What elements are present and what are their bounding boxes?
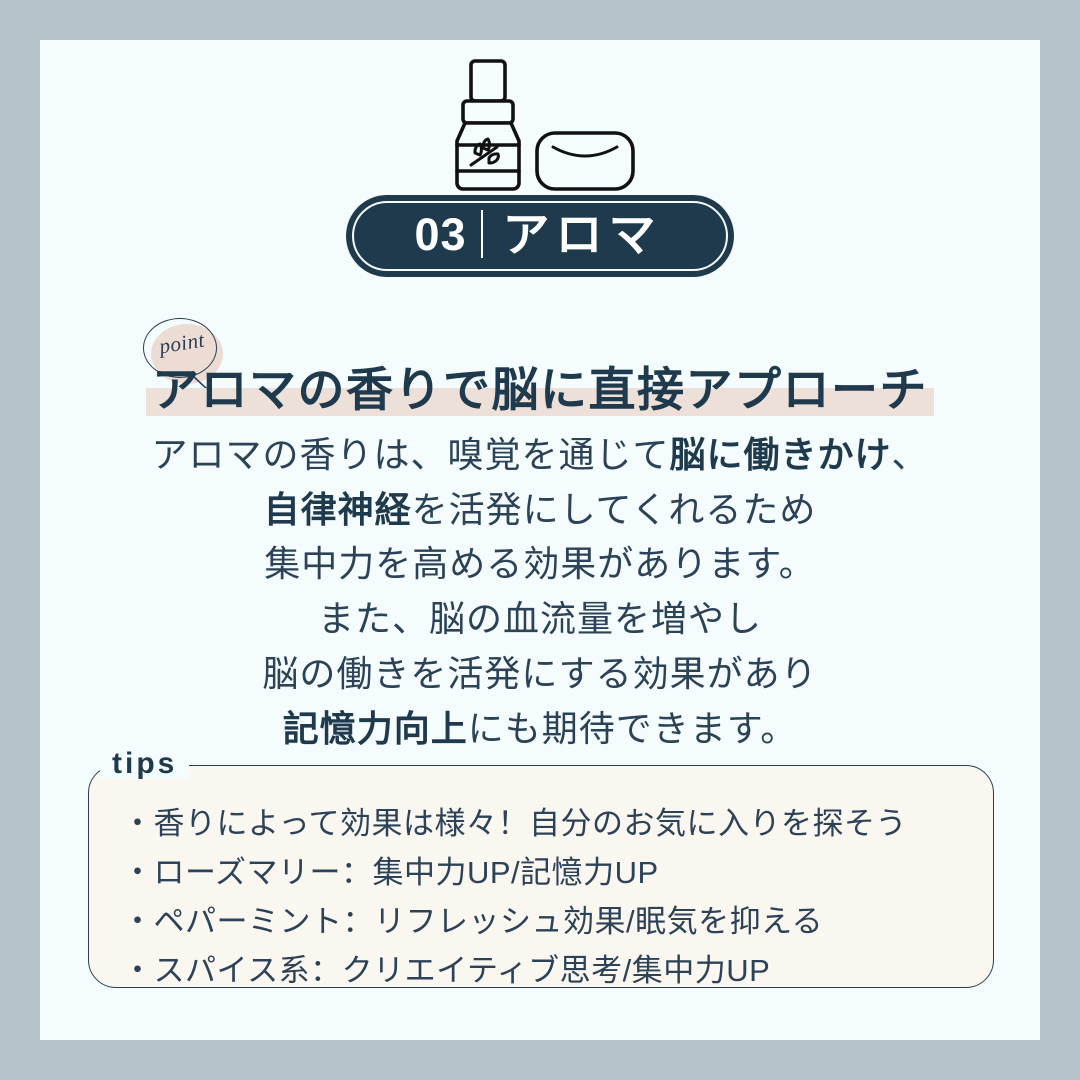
tips-legend-label: tips	[100, 749, 189, 779]
body-emphasis: 記憶力向上	[283, 708, 468, 749]
content-card: 03 アロマ point アロマの香りで脳に直接アプローチ アロマの香りは、嗅覚…	[40, 40, 1040, 1040]
tips-list: ・香りによって効果は様々！自分のお気に入りを探そう・ローズマリー：集中力UP/記…	[122, 800, 972, 996]
section-title: アロマ	[503, 211, 666, 258]
body-line: また、脳の血流量を増やし	[40, 592, 1040, 647]
section-number: 03	[414, 212, 466, 257]
page-title: アロマの香りで脳に直接アプローチ	[152, 362, 928, 417]
body-run: にも期待できます。	[468, 708, 797, 749]
body-emphasis: 脳に働きかけ	[669, 434, 891, 475]
body-line: 集中力を高める効果があります。	[40, 537, 1040, 592]
tips-item: ・スパイス系：クリエイティブ思考/集中力UP	[122, 947, 972, 996]
body-line: アロマの香りは、嗅覚を通じて脳に働きかけ、	[40, 428, 1040, 483]
badge-divider	[481, 210, 483, 258]
aroma-oil-bottle-and-soap-icon	[40, 50, 1040, 200]
tips-item: ・香りによって効果は様々！自分のお気に入りを探そう	[122, 800, 972, 849]
body-run: 集中力を高める効果があります。	[264, 543, 815, 584]
section-badge: 03 アロマ	[346, 195, 734, 277]
body-run: アロマの香りは、嗅覚を通じて	[151, 434, 669, 475]
body-line: 記憶力向上にも期待できます。	[40, 702, 1040, 757]
body-run: また、脳の血流量を増やし	[318, 598, 762, 639]
section-badge-wrap: 03 アロマ	[40, 195, 1040, 277]
body-line: 脳の働きを活発にする効果があり	[40, 647, 1040, 702]
headline-wrap: アロマの香りで脳に直接アプローチ	[40, 362, 1040, 417]
tips-item: ・ペパーミント：リフレッシュ効果/眠気を抑える	[122, 898, 972, 947]
body-run: 、	[892, 434, 929, 475]
body-run: 脳の働きを活発にする効果があり	[262, 653, 817, 694]
body-run: を活発にしてくれるため	[412, 489, 817, 530]
body-line: 自律神経を活発にしてくれるため	[40, 483, 1040, 538]
outer-frame: 03 アロマ point アロマの香りで脳に直接アプローチ アロマの香りは、嗅覚…	[0, 0, 1080, 1080]
body-emphasis: 自律神経	[264, 489, 412, 530]
tips-item: ・ローズマリー：集中力UP/記憶力UP	[122, 849, 972, 898]
body-paragraph: アロマの香りは、嗅覚を通じて脳に働きかけ、自律神経を活発にしてくれるため集中力を…	[40, 428, 1040, 756]
